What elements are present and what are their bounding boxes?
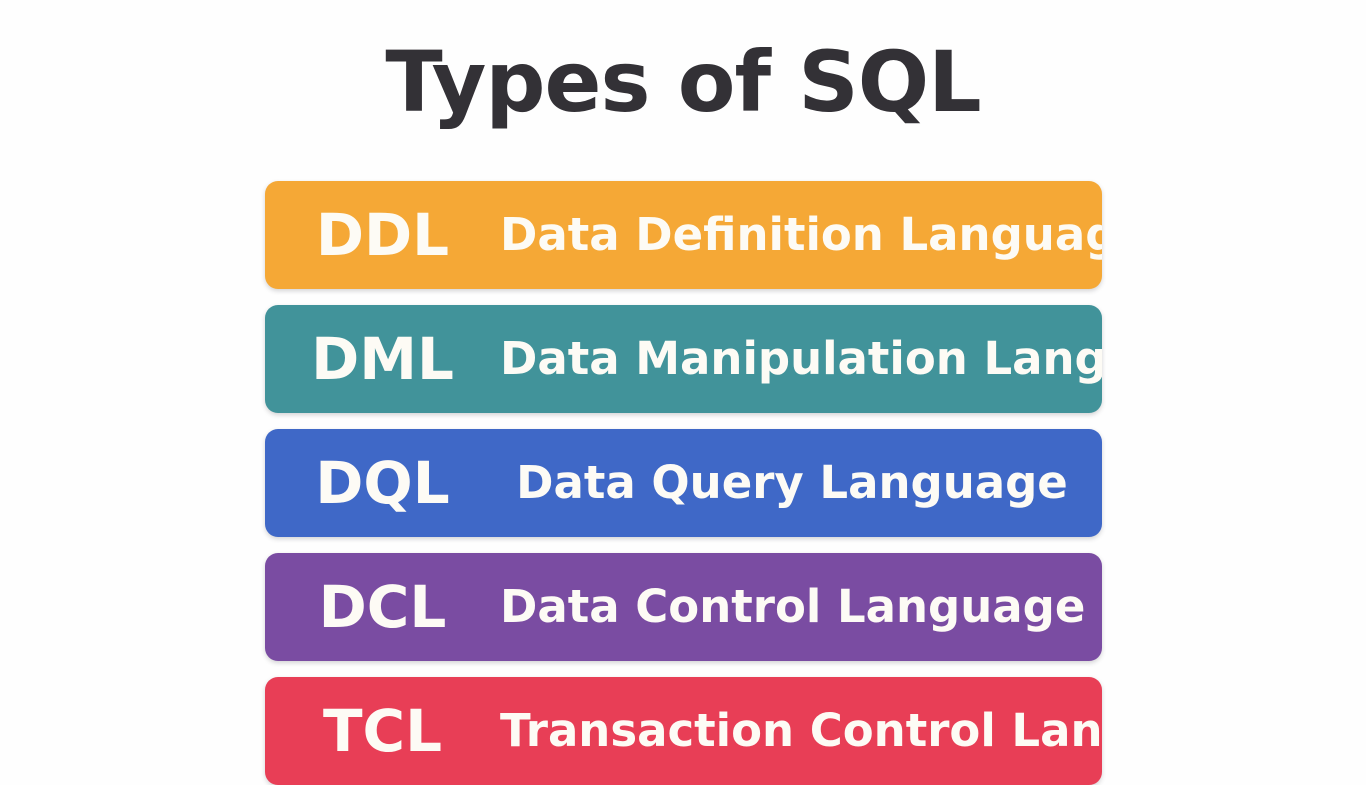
page-title: Types of SQL — [0, 28, 1366, 136]
sql-type-abbreviation: DML — [265, 305, 500, 413]
sql-type-abbreviation: DDL — [265, 181, 500, 289]
list-item: DQL Data Query Language — [265, 429, 1102, 537]
sql-type-list: DDL Data Definition Language DML Data Ma… — [265, 181, 1102, 785]
sql-types-infographic: Types of SQL DDL Data Definition Languag… — [0, 0, 1366, 768]
sql-type-description: Data Query Language — [500, 429, 1102, 537]
list-item: DDL Data Definition Language — [265, 181, 1102, 289]
sql-type-description: Data Definition Language — [500, 181, 1102, 289]
sql-type-abbreviation: DCL — [265, 553, 500, 661]
sql-type-description: Transaction Control Language — [500, 677, 1102, 785]
sql-type-abbreviation: DQL — [265, 429, 500, 537]
sql-type-description: Data Manipulation Language — [500, 305, 1102, 413]
sql-type-description: Data Control Language — [500, 553, 1102, 661]
sql-type-abbreviation: TCL — [265, 677, 500, 785]
list-item: DCL Data Control Language — [265, 553, 1102, 661]
list-item: TCL Transaction Control Language — [265, 677, 1102, 785]
list-item: DML Data Manipulation Language — [265, 305, 1102, 413]
